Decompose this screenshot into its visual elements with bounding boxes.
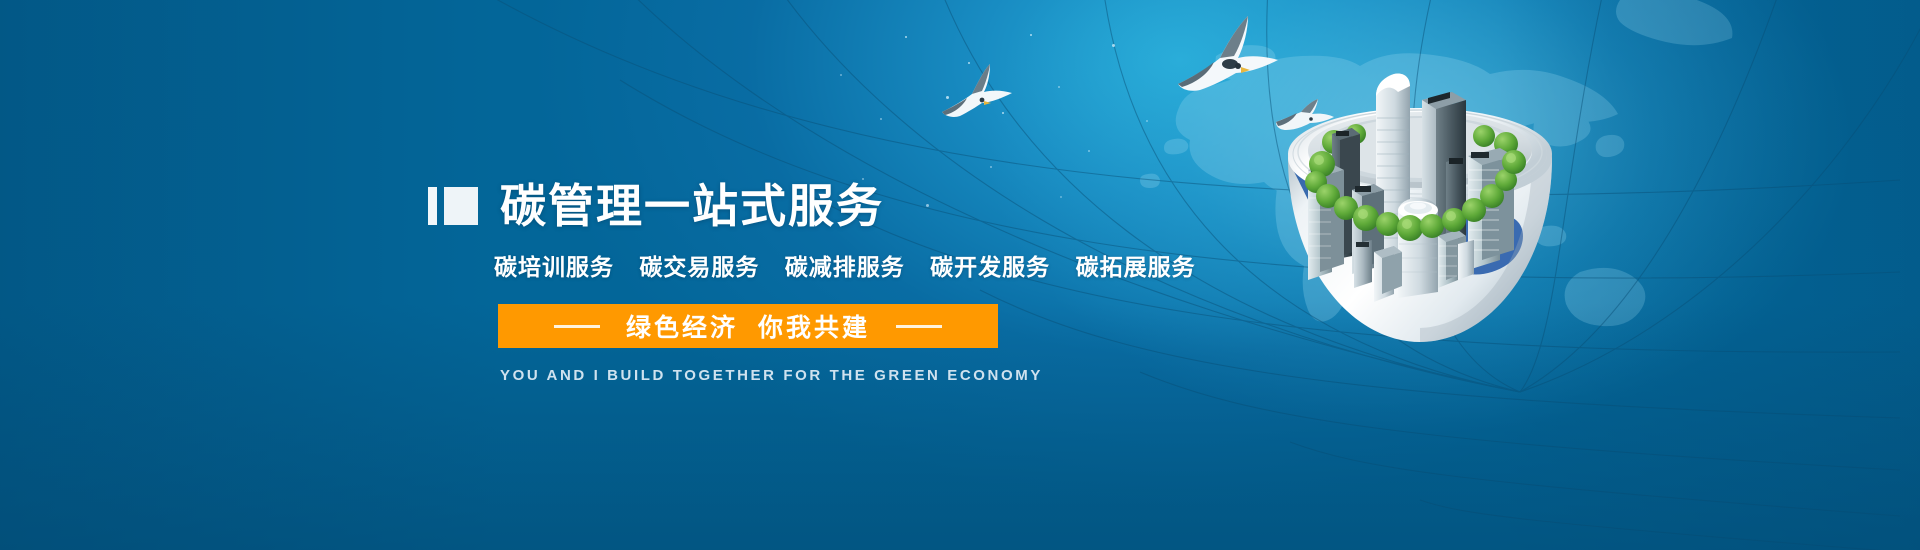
service-item-4: 碳拓展服务: [1076, 254, 1196, 280]
ribbon-dash-right: [896, 325, 942, 328]
english-tagline: YOU AND I BUILD TOGETHER FOR THE GREEN E…: [500, 367, 1188, 384]
hero-banner: 碳管理一站式服务 碳培训服务 碳交易服务 碳减排服务 碳开发服务 碳拓展服务 绿…: [0, 0, 1920, 550]
ribbon-dash-left: [554, 325, 600, 328]
service-item-0: 碳培训服务: [494, 254, 614, 280]
service-item-2: 碳减排服务: [785, 254, 905, 280]
service-list: 碳培训服务 碳交易服务 碳减排服务 碳开发服务 碳拓展服务: [494, 248, 1188, 282]
service-item-3: 碳开发服务: [930, 254, 1050, 280]
globe-city-illustration: [1270, 30, 1570, 370]
slogan-ribbon: 绿色经济你我共建: [498, 304, 998, 348]
slogan-text: 绿色经济你我共建: [626, 308, 870, 344]
slogan-part-2: 你我共建: [758, 314, 870, 342]
banner-copy: 碳管理一站式服务 碳培训服务 碳交易服务 碳减排服务 碳开发服务 碳拓展服务 绿…: [428, 178, 1188, 384]
page-title: 碳管理一站式服务: [500, 183, 884, 229]
mark-square-shape: [444, 187, 478, 225]
slogan-part-1: 绿色经济: [626, 314, 738, 342]
title-row: 碳管理一站式服务: [428, 178, 1188, 234]
service-item-1: 碳交易服务: [639, 254, 759, 280]
bar-square-icon: [428, 187, 478, 225]
mark-bar-shape: [428, 187, 437, 225]
